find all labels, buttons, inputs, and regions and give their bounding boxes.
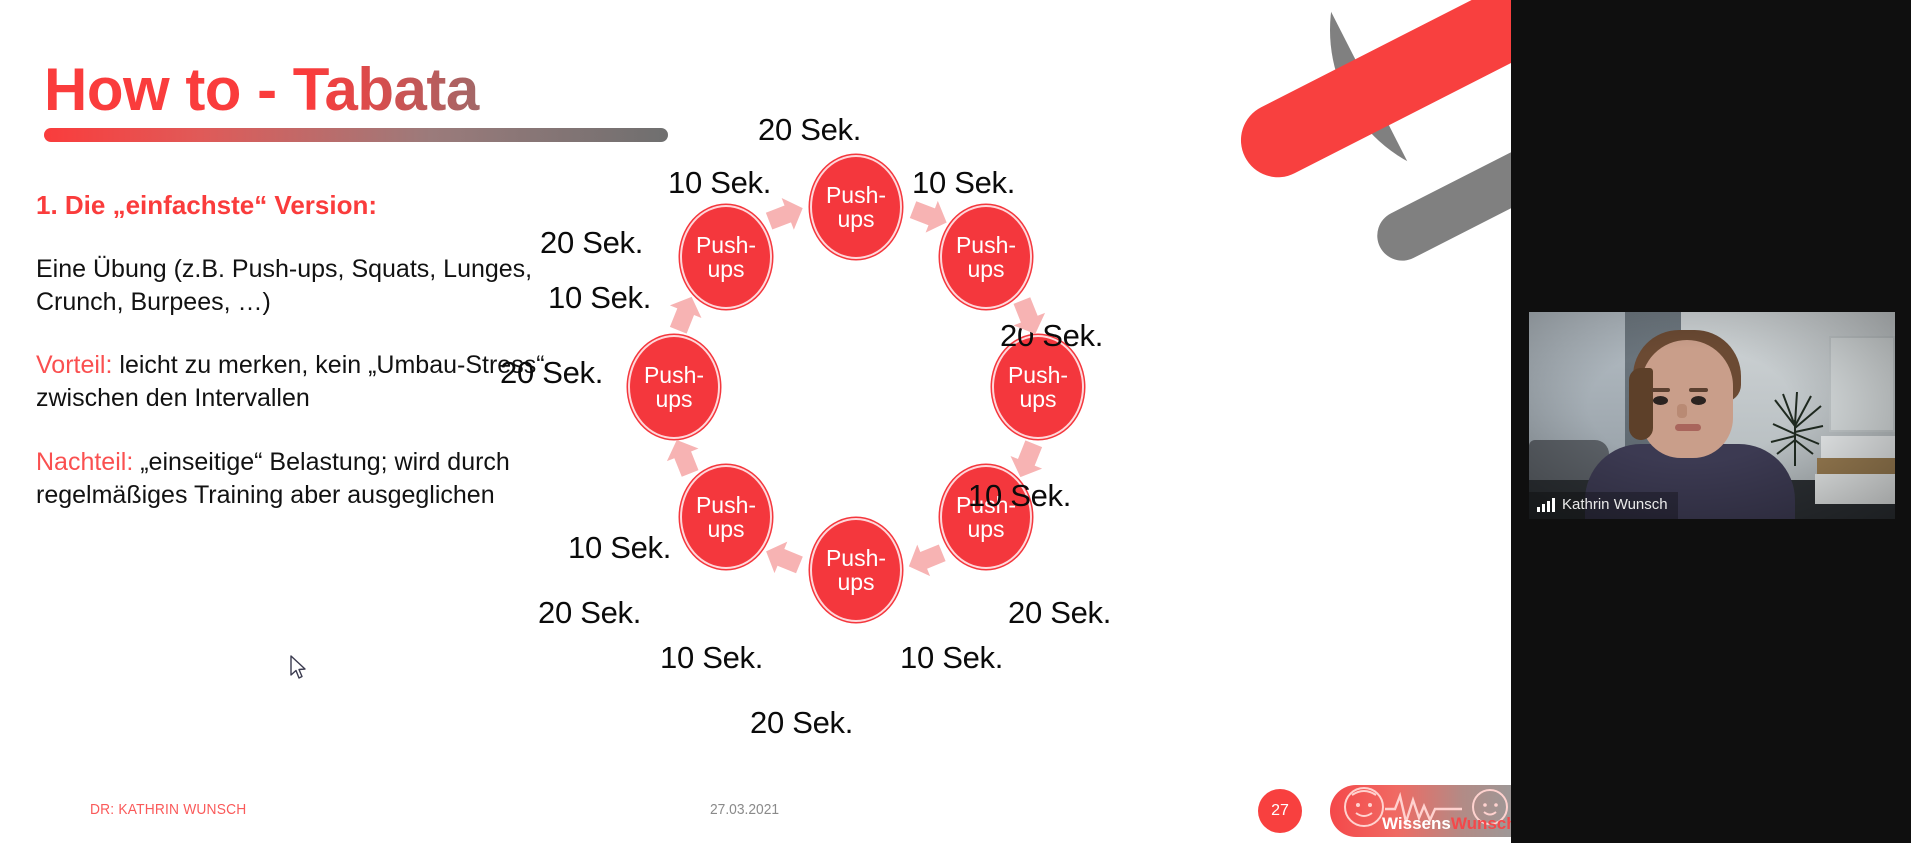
section-heading: 1. Die „einfachste“ Version: <box>36 188 556 223</box>
body-paragraph-exercise: Eine Übung (z.B. Push-ups, Squats, Lunge… <box>36 253 556 320</box>
cycle-arrow-4 <box>902 537 948 582</box>
advantage-label: Vorteil: <box>36 351 112 379</box>
cycle-arrow-7 <box>662 291 707 337</box>
participant-name-bar: Kathrin Wunsch <box>1529 492 1678 519</box>
body-paragraph-disadvantage: Nachteil: „einseitige“ Belastung; wird d… <box>36 446 556 513</box>
cycle-arrow-8 <box>763 192 809 237</box>
logo-wordmark: WissensWunsch <box>1382 814 1511 834</box>
cycle-arrow-5 <box>760 536 806 581</box>
slide-number-badge: 27 <box>1258 789 1302 833</box>
cycle-arrow-1 <box>907 194 953 239</box>
cycle-arrow-6 <box>661 434 706 480</box>
interval-label-7: 20 Sek. <box>750 705 853 741</box>
participant-name: Kathrin Wunsch <box>1562 496 1668 513</box>
video-panel: Kathrin Wunsch <box>1511 0 1911 843</box>
footer-date: 27.03.2021 <box>710 801 779 818</box>
mouse-pointer-icon <box>290 655 308 686</box>
slide-footer: DR: KATHRIN WUNSCH 27.03.2021 27 Wissens… <box>0 783 1511 843</box>
tabata-cycle-diagram: Push-upsPush-upsPush-upsPush-upsPush-ups… <box>500 100 1260 670</box>
signal-bars-icon <box>1537 498 1555 512</box>
wissenswunsch-logo: WissensWunsch Gesundheitskompetenz <box>1330 785 1511 837</box>
cycle-arrow-2 <box>1006 294 1051 340</box>
disadvantage-label: Nachteil: <box>36 448 133 476</box>
video-vignette <box>1529 312 1895 519</box>
participant-video-tile[interactable]: Kathrin Wunsch <box>1529 312 1895 519</box>
presentation-slide: How to - Tabata 1. Die „einfachste“ Vers… <box>0 0 1511 843</box>
logo-word-2: Wunsch <box>1451 814 1511 833</box>
body-paragraph-advantage: Vorteil: leicht zu merken, kein „Umbau-S… <box>36 349 556 416</box>
logo-word-1: Wissens <box>1382 814 1451 833</box>
screen: How to - Tabata 1. Die „einfachste“ Vers… <box>0 0 1911 843</box>
footer-author: DR: KATHRIN WUNSCH <box>90 801 246 818</box>
advantage-text: leicht zu merken, kein „Umbau-Stress“ zw… <box>36 351 545 412</box>
slide-body: 1. Die „einfachste“ Version: Eine Übung … <box>36 188 556 542</box>
cycle-arrow-3 <box>1005 437 1050 483</box>
cycle-arrows <box>500 100 1260 670</box>
